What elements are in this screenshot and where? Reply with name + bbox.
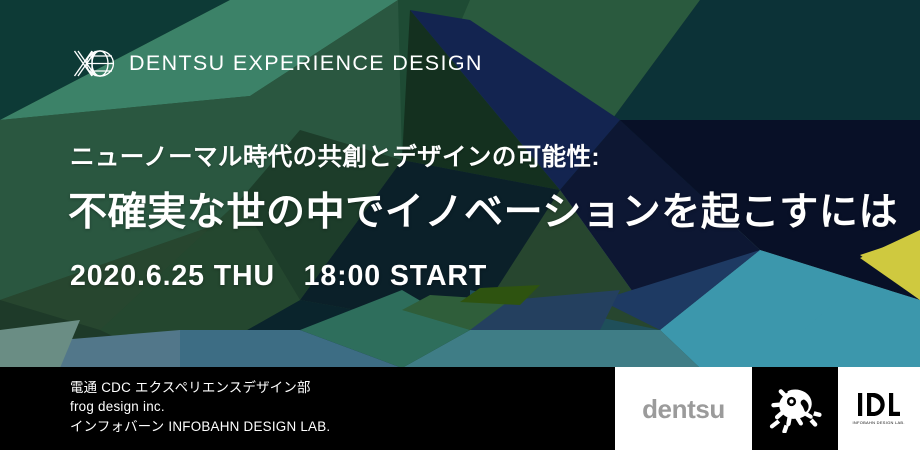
dentsu-wordmark-icon: dentsu [642,396,725,422]
partner-logos: dentsu [615,367,920,450]
xd-monogram-icon [72,48,116,79]
event-datetime: 2020.6.25 THU 18:00 START [70,259,487,293]
footer-bar: 電通 CDC エクスペリエンスデザイン部 frog design inc. イン… [0,367,920,450]
event-date: 2020.6.25 THU [70,260,275,292]
event-subhead: ニューノーマル時代の共創とデザインの可能性: [70,143,600,172]
logo-panel-idl: INFOBAHN DESIGN LAB. [838,367,920,450]
brand-wordmark: DENTSU EXPERIENCE DESIGN [129,53,483,75]
idl-logo-block: INFOBAHN DESIGN LAB. [853,392,904,425]
logo-panel-frog [752,367,838,450]
footer-credits: 電通 CDC エクスペリエンスデザイン部 frog design inc. イン… [0,367,615,450]
credit-line-1: 電通 CDC エクスペリエンスデザイン部 [70,378,615,397]
credit-line-3: インフォバーン INFOBAHN DESIGN LAB. [70,417,615,436]
frog-logo-icon [764,385,826,433]
credit-line-2: frog design inc. [70,397,615,416]
logo-panel-dentsu: dentsu [615,367,752,450]
event-time: 18:00 START [304,260,488,292]
idl-logo-icon [856,392,902,417]
idl-caption: INFOBAHN DESIGN LAB. [853,421,905,425]
brand-lockup: DENTSU EXPERIENCE DESIGN [72,48,483,79]
event-headline: 不確実な世の中でイノベーションを起こすには [68,190,898,237]
event-banner: DENTSU EXPERIENCE DESIGN ニューノーマル時代の共創とデザ… [0,0,920,450]
